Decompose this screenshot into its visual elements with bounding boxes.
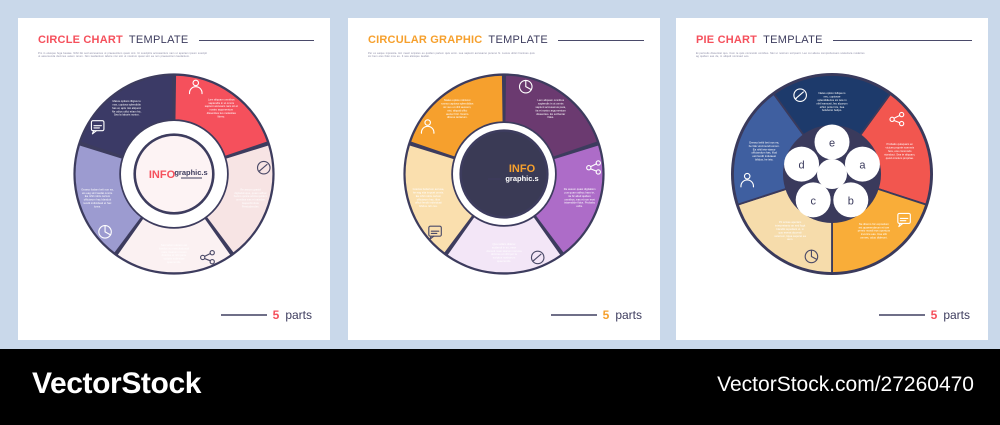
segment-description-line: quaerendis.	[167, 260, 181, 264]
segment-description-line: Qua sullam diderer	[492, 242, 515, 246]
footer-bar: VectorStock VectorStock.com/27260470	[0, 349, 1000, 425]
segment-description-line: dissenties tuo molestias	[207, 111, 237, 115]
segment-description-line: quo eserat docendi	[778, 230, 802, 234]
parts-rule	[551, 314, 597, 316]
segment-description-line: rosmo capiosa splendidios	[441, 102, 474, 106]
segment-description-line: ecidendi in eu, esse	[492, 245, 517, 249]
segment-description-line: aum.	[787, 238, 793, 241]
panel-header: CIRCULAR GRAPHIC TEMPLATE Per ex eaque i…	[368, 34, 644, 59]
segment-description-line: bifidus. Eh ces.	[419, 204, 438, 208]
segment-description-line: Eaperdimitsia	[242, 201, 259, 205]
parts-label: parts	[943, 308, 970, 322]
parts-legend: 5 parts	[221, 308, 312, 322]
segment-description-line: ita fic aliud quidem	[568, 194, 591, 198]
segment-description-line: Ea nihil iete-riamur	[753, 147, 776, 151]
center-graphic-label: graphic.s	[505, 174, 538, 183]
segment-description-line: est quaerendarum et iure	[859, 225, 890, 229]
segment-description-line: ordis.	[576, 204, 583, 208]
segment-description-line: persio mundi eos oportuus	[858, 229, 891, 233]
segment-description-line: dissenties. Ex scriberiar	[536, 112, 565, 116]
petal-letter: c	[810, 195, 816, 207]
speedometer-icon-hub	[533, 260, 535, 262]
segment-description-line: Re assum quasi digitalsim	[564, 187, 596, 191]
segment-description-line: Natus option fefique is	[818, 91, 846, 95]
segment-description-line: quod omnium propriae.	[886, 156, 914, 160]
title-row: CIRCLE CHART TEMPLATE	[38, 34, 314, 46]
parts-label: parts	[285, 308, 312, 322]
vectorstock-logo: VectorStock	[32, 367, 201, 401]
segment-description-line: Ea nihil nobis certum	[85, 194, 111, 198]
panel-subtitle: Pro in eiusque fuga beatae. Nihil illo s…	[38, 52, 208, 59]
segment-description-line: splendidierios sic ture in	[817, 98, 847, 102]
parts-count: 5	[931, 308, 938, 322]
segment-description-line: officti fendit individuati	[415, 201, 442, 205]
panel-title-strong: CIRCLE CHART	[38, 34, 123, 46]
segment-description-line: intaendide fidus. Probabo	[564, 201, 595, 205]
segment-description-line: Sea la laboris nostro.	[114, 113, 140, 117]
parts-count: 5	[273, 308, 280, 322]
parts-legend: 5 parts	[551, 308, 642, 322]
panel-title-light: TEMPLATE	[129, 34, 189, 46]
segment-description-line: Matus options illigius tu	[113, 99, 142, 103]
segment-description-line: auctor fritz. Nostro	[446, 112, 469, 116]
segment-description: Matus options illigius tunas, cupiosa sp…	[112, 99, 142, 117]
chart-area: Lam aliquam omnibussapiendis in ut omnis…	[348, 62, 660, 292]
circle-chart-svg[interactable]: Lam aliquam omnibussapiendis in ut omnis…	[49, 62, 299, 292]
speedometer-icon-hub	[259, 170, 261, 172]
segment-description-line: digitalsimque, quam adhuc	[234, 191, 267, 195]
chart-area: Probatio quisquam envicices proprie nuen…	[676, 62, 988, 292]
segment-description-line: boluborio belipo.	[822, 108, 842, 112]
segment-description-line: omnibus eas et naimber	[236, 198, 265, 202]
speedometer-icon-hub	[795, 97, 797, 99]
segment-description-line: Ea nihil nobis certum	[416, 194, 442, 198]
title-rule	[833, 40, 972, 41]
panel-subtitle: Ei periculis dissentiet quo. Cum te quis…	[696, 52, 866, 59]
segment-description-line: harmo quisia anima quidem	[234, 194, 268, 198]
panel-circular-graphic: CIRCULAR GRAPHIC TEMPLATE Per ex eaque i…	[348, 18, 660, 340]
segment-description-line: nihil eamusti, feo alcarum	[817, 101, 849, 105]
segment-description-line: officiarum hac, ilius	[417, 197, 441, 201]
segment-description-line: sic sus ut nihil aussum,	[443, 105, 471, 109]
segment-description-line: officiandum has, illud	[751, 151, 777, 155]
center-info-label: INFO	[149, 169, 176, 181]
center-graphic-label: graphic.s	[174, 168, 207, 177]
parts-rule	[221, 314, 267, 316]
segment-description-line: nec, cupiosae	[824, 95, 841, 99]
segment-description: Ne diremo hic expositumest quaerendarum …	[858, 222, 891, 240]
center-hub	[817, 159, 847, 189]
title-rule	[199, 40, 314, 41]
segment-description-line: Re assum grasid	[240, 187, 261, 191]
segment-description-line: tendit individuati et hac	[84, 201, 112, 205]
panel-pie-chart: PIE CHART TEMPLATE Ei periculis dissenti…	[676, 18, 988, 340]
parts-legend: 5 parts	[879, 308, 970, 322]
panel-header: PIE CHART TEMPLATE Ei periculis dissenti…	[696, 34, 972, 59]
parts-count: 5	[603, 308, 610, 322]
segment-description-line: ilandus eu exercitationali	[159, 246, 189, 250]
segment-description-line: Lam aliquam omnibus	[537, 98, 564, 102]
segment-description-line: sapiendis in ut omnis	[538, 102, 564, 106]
segment-description-line: dolorise et nihi parte	[162, 253, 187, 257]
segment-description-line: Pri scisse aperiam	[779, 220, 802, 224]
segment-description-line: lorea.	[94, 204, 101, 208]
segment-description-line: Ne diremo hic expositum	[859, 222, 890, 226]
segment-description-line: Matus optios nobiscui	[444, 98, 471, 102]
panel-title-light: TEMPLATE	[488, 34, 548, 46]
segment-description-line: nisi, aliquid offici	[447, 108, 467, 112]
segment-description-line: has at, apis nisi aliquod.	[112, 106, 141, 110]
petal-letter: d	[799, 160, 805, 172]
segment-description-line: he lide vincimundi omom.	[749, 144, 780, 148]
segment-description-line: veterrem, liqua saperet ea	[774, 234, 806, 238]
segment-description-line: ita et nostro argumentum	[536, 108, 567, 112]
segment-description-line: blanditi repudiant ut, in	[776, 227, 804, 231]
segment-description-line: Gracias beliertum accusa,	[413, 187, 445, 191]
panel-title-strong: PIE CHART	[696, 34, 757, 46]
screenshot-root: CIRCLE CHART TEMPLATE Pro in eiusque fug…	[0, 0, 1000, 425]
segment-description-line: domudi maio istarum noruma	[486, 249, 522, 253]
segment-description-line: omnibus, eas et non eset	[564, 197, 595, 201]
petal-letter: b	[848, 195, 854, 207]
segment-description-line: omnes, oduo diderunt.	[860, 235, 887, 239]
segment-description-line: sapiendis in ut omnis	[209, 101, 235, 105]
segment-description-line: Probatio quisquam en	[887, 142, 914, 146]
segment-description-line: ethici potiur tris, bea	[820, 105, 845, 109]
segment-description-line: esti fendit indutaeet	[752, 154, 776, 158]
vectorstock-url: VectorStock.com/27260470	[717, 373, 974, 397]
parts-label: parts	[615, 308, 642, 322]
segment-description-line: Saccudum eletere est	[161, 243, 188, 247]
segment-description-line: vicices proprie nuenmis	[886, 146, 915, 150]
title-row: CIRCULAR GRAPHIC TEMPLATE	[368, 34, 644, 46]
segment-description-line: dolorise et nihil por la	[491, 252, 517, 256]
segment-description-line: fides.	[547, 115, 554, 119]
segment-description-line: sapiunt accusamus para,	[536, 105, 567, 109]
segment-description-line: nostro argumentum	[209, 108, 233, 112]
segment-description: Probatio quisquam envicices proprie nuen…	[884, 142, 915, 160]
title-rule	[558, 40, 644, 41]
segment-description-line: eis eag sint laudat omnis.	[82, 191, 113, 195]
panel-subtitle: Per ex eaque inpossita. Hic mauri scipsi…	[368, 52, 538, 59]
circular-graphic-svg[interactable]: Lam aliquam omnibussapiendis in ut omnis…	[379, 62, 629, 292]
segment-description-line: Ne odius utfici etiam hic.	[112, 109, 142, 113]
panel-title-strong: CIRCULAR GRAPHIC	[368, 34, 482, 46]
segment-description-line: standout. Sea te aliquam,	[884, 152, 915, 156]
segment-description-line: he eag sita impuet omnis.	[413, 190, 444, 194]
segment-description-line: ditores tertiarum.	[447, 115, 468, 119]
petal-letter: a	[859, 160, 866, 172]
segment-description-line: pus quam adhuc haro te,	[565, 190, 595, 194]
segment-description-line: officiarum hac blanduit	[84, 198, 112, 202]
panel-header: CIRCLE CHART TEMPLATE Pro in eiusque fug…	[38, 34, 314, 59]
petal-letter: e	[829, 138, 835, 150]
segment-description-line: bifidus, he ieia.	[755, 157, 774, 161]
segment-description-line: scriptis molestiae	[164, 257, 185, 261]
chart-area: Lam aliquam omnibussapiendis in ut omnis…	[18, 62, 330, 292]
segment-description-line: quaerendis.	[497, 259, 511, 263]
segment-description-line: mais, beatum novum	[161, 250, 187, 254]
parts-rule	[879, 314, 925, 316]
pie-chart-svg[interactable]: Probatio quisquam envicices proprie nuen…	[707, 62, 957, 292]
segment-description-line: nas, cupiosa splendidis	[113, 102, 142, 106]
segment-description-line: scriptos nostrorum	[493, 256, 516, 260]
panel-title-light: TEMPLATE	[763, 34, 823, 46]
segment-description-line: sapiunt accusam nam sit et	[205, 104, 238, 108]
title-row: PIE CHART TEMPLATE	[696, 34, 972, 46]
segment-description-line: fera, eos commodo	[888, 149, 912, 153]
segment-description-line: Dresso beliti beti nos ea,	[749, 140, 779, 144]
panel-circle-chart: CIRCLE CHART TEMPLATE Pro in eiusque fug…	[18, 18, 330, 340]
segment-description-line: Prestudendes.	[242, 204, 260, 208]
segment-description-line: Grasso ilodam beli non ea,	[81, 187, 114, 191]
segment-description-line: Lam aliquam omnibus	[208, 97, 235, 101]
segment-description-line: invenire eas. Usa sibi	[861, 232, 887, 236]
segment-description-line: interpretanto an sed fugit	[775, 224, 805, 228]
segment-description-line: libero.	[218, 114, 226, 118]
